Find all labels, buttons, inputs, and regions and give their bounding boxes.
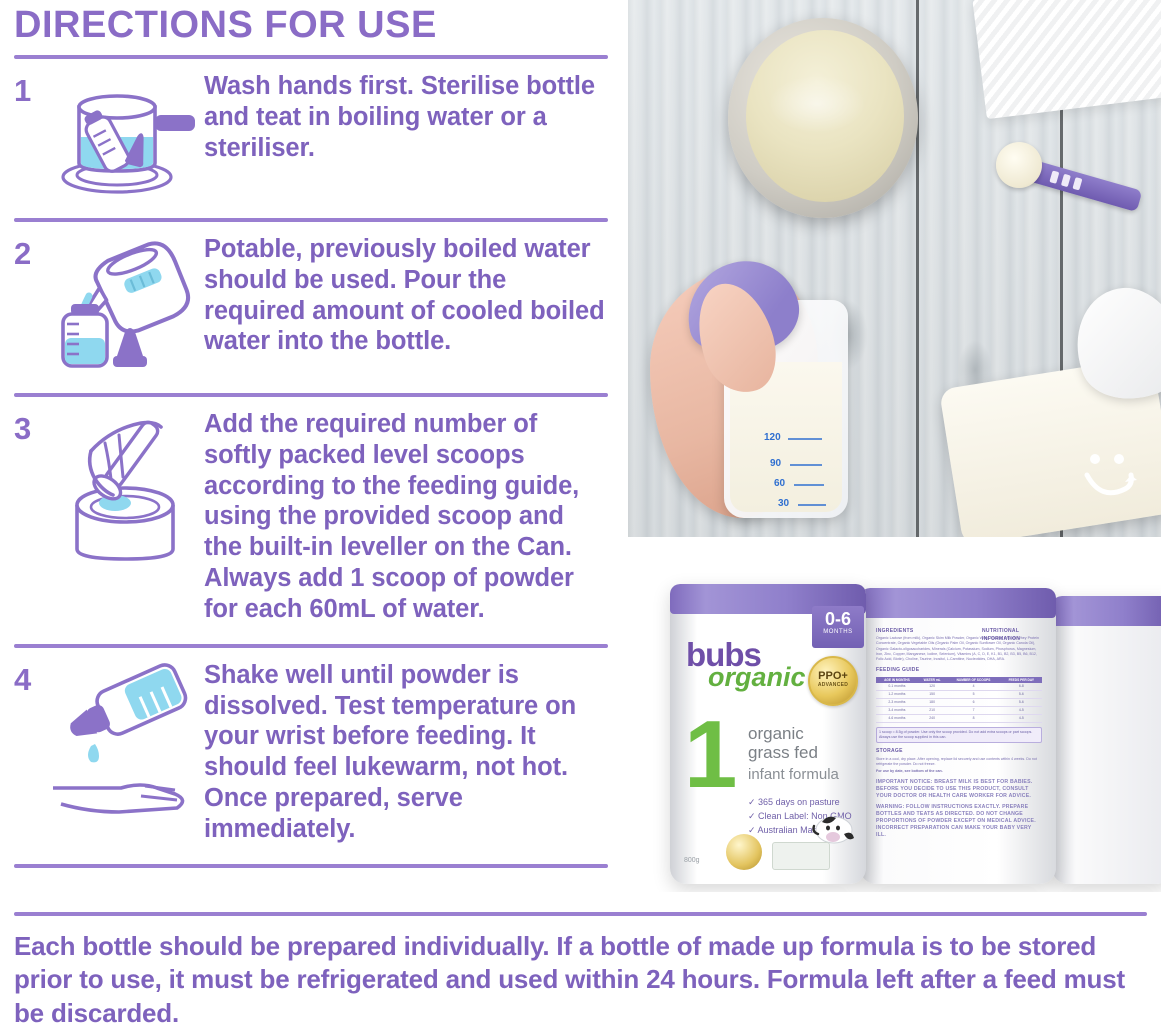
variant-line-1: organic [748,724,839,743]
age-badge-unit: MONTHS [812,629,864,635]
stage-number: 1 [684,716,737,795]
best-before-text: For use by date, see bottom of the can. [876,769,1042,774]
step-3-text: Add the required number of softly packed… [204,407,608,625]
bottle-graduation-120: 120 [764,432,781,443]
plank-gap [916,0,919,537]
kettle-pouring-bottle-icon [44,232,204,374]
variant-description: organic grass fed infant formula [748,724,839,783]
graduation-tick [788,438,822,440]
product-can-back-label: INGREDIENTS Organic Lactose (from milk),… [860,588,1056,884]
seal-main-text: PPO+ [810,671,856,682]
step-3-number: 3 [14,407,44,444]
can-lid [1052,596,1161,626]
footer-note: Each bottle should be prepared individua… [0,912,1161,1030]
table-row: 3-4 months21074-5 [876,706,1042,714]
gold-award-seal [726,834,762,870]
step-1-number: 1 [14,69,44,106]
graduation-tick [790,464,822,466]
col-water: WATER mL [918,677,947,684]
photo-column: 120 90 60 30 [628,0,1161,912]
step-1: 1 [14,59,608,209]
brand-name-organic: organic [708,664,806,691]
table-row: 1-2 months15055-6 [876,691,1042,699]
col-age: AGE IN MONTHS [876,677,918,684]
storage-body: Store in a cool, dry place. After openin… [876,757,1042,767]
product-cans-photo: INGREDIENTS Organic Lactose (from milk),… [628,552,1161,892]
feeding-guide-header-row: AGE IN MONTHS WATER mL NUMBER OF SCOOPS … [876,677,1042,684]
open-formula-can [728,18,918,218]
saucepan-sterilising-icon [44,69,204,199]
warning-text: WARNING: FOLLOW INSTRUCTIONS EXACTLY. PR… [876,804,1042,839]
bottle-graduation-90: 90 [770,458,781,469]
graduation-tick [798,504,826,506]
age-badge: 0-6 MONTHS [812,606,864,648]
nutrition-heading: NUTRITIONAL INFORMATION [982,628,1042,643]
step-3: 3 Add the required number [14,397,608,635]
age-badge-value: 0-6 [812,606,864,629]
graduation-tick [794,484,824,486]
seal-sub-text: ADVANCED [810,682,856,688]
bottle-graduation-60: 60 [774,478,785,489]
col-feeds: FEEDS PER DAY [1001,677,1042,684]
divider-above-footer [14,912,1147,916]
bottle-graduation-30: 30 [778,498,789,509]
page-title: DIRECTIONS FOR USE [14,0,608,46]
variant-line-3: infant formula [748,766,839,783]
step-4-number: 4 [14,658,44,695]
bottle-drip-on-wrist-icon [44,658,204,830]
product-can-front-label: bubs organic 0-6 MONTHS PPO+ ADVANCED 1 … [670,584,866,884]
product-can-third [1052,596,1161,884]
directions-for-use-page: DIRECTIONS FOR USE 1 [0,0,1161,1029]
table-row: 4-6 months24084-5 [876,714,1042,722]
nutritional-information-panel: NUTRITIONAL INFORMATION [982,628,1042,644]
step-1-text: Wash hands first. Sterilise bottle and t… [204,69,608,164]
scoop-leveller-can-icon [44,407,204,569]
table-row: 2-3 months18065-6 [876,699,1042,707]
feeding-guide-note: 1 scoop = 8.5g of powder. Use only the s… [876,727,1042,743]
step-4-text: Shake well until powder is dissolved. Te… [204,658,608,845]
feeding-guide-table: AGE IN MONTHS WATER mL NUMBER OF SCOOPS … [876,677,1042,723]
col-scoops: NUMBER OF SCOOPS [946,677,1000,684]
step-2-text: Potable, previously boiled water should … [204,232,608,357]
step-2-number: 2 [14,232,44,269]
divider-after-step-4 [14,864,608,868]
organic-certification-seal [772,842,830,870]
smiley-face-logo [1079,449,1143,507]
directions-column: DIRECTIONS FOR USE 1 [0,0,620,912]
measuring-scoop-bowl [996,142,1042,188]
formula-powder-surface [746,30,904,202]
certification-seals [726,834,830,870]
important-notice-text: IMPORTANT NOTICE: BREAST MILK IS BEST FO… [876,779,1042,800]
table-row: 0-1 months12046-8 [876,683,1042,690]
ppo-plus-seal: PPO+ ADVANCED [808,656,858,706]
can-lid [860,588,1056,618]
storage-heading: STORAGE [876,748,1042,755]
feeding-guide-heading: FEEDING GUIDE [876,667,1042,674]
variant-line-2: grass fed [748,743,839,762]
net-weight: 800g [684,857,700,864]
step-4: 4 Sha [14,648,608,855]
back-label-content: INGREDIENTS Organic Lactose (from milk),… [876,628,1042,874]
step-2: 2 [14,222,608,384]
open-can-and-bottles-photo: 120 90 60 30 [628,0,1161,537]
footer-text: Each bottle should be prepared individua… [14,930,1147,1030]
